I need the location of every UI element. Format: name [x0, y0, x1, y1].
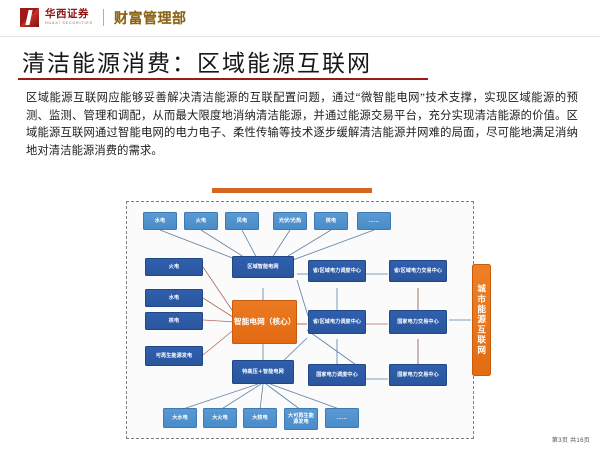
body-paragraph: 区域能源互联网应能够妥善解决清洁能源的互联配置问题，通过“微智能电网”技术支撑，…: [26, 90, 578, 160]
diagram-top-accent-bar: [212, 188, 372, 193]
node-bottom-source-4[interactable]: 大可再生能源发电: [284, 408, 318, 430]
huaxi-logo-icon: [20, 8, 39, 27]
node-top-source-5[interactable]: 核电: [314, 212, 348, 230]
node-right-grid-6[interactable]: 国家电力交易中心: [389, 364, 447, 386]
node-smart-grid-core[interactable]: 智能电网（核心）: [232, 300, 297, 344]
node-left-source-3[interactable]: 核电: [145, 312, 203, 330]
brand-name-cn: 华西证券: [45, 9, 93, 20]
node-top-source-3[interactable]: 风电: [225, 212, 259, 230]
node-top-source-2[interactable]: 火电: [184, 212, 218, 230]
energy-internet-diagram: 水电 火电 风电 光伏/光热 核电 …… 火电 水电 核电 可再生能源发电 区域…: [108, 188, 508, 446]
brand-name-block: 华西证券 HUAXI SECURITIES: [45, 9, 93, 26]
brand-header-bar: 华西证券 HUAXI SECURITIES 财富管理部: [0, 0, 600, 36]
node-bottom-source-3[interactable]: 大核电: [243, 408, 277, 428]
brand-logo-group: 华西证券 HUAXI SECURITIES 财富管理部: [20, 8, 186, 27]
node-right-grid-2[interactable]: 省/区域电力交易中心: [389, 260, 447, 282]
node-uhv-smart-grid[interactable]: 特高压＋智能电网: [232, 360, 294, 384]
page-title: 清洁能源消费：区域能源互联网: [22, 44, 372, 78]
node-left-source-1[interactable]: 火电: [145, 258, 203, 276]
node-bottom-source-2[interactable]: 大火电: [203, 408, 237, 428]
node-left-source-2[interactable]: 水电: [145, 289, 203, 307]
node-bottom-source-1[interactable]: 大水电: [163, 408, 197, 428]
brand-name-en: HUAXI SECURITIES: [45, 20, 93, 26]
title-underline: [18, 78, 428, 80]
brand-divider: [103, 9, 104, 26]
node-top-source-4[interactable]: 光伏/光热: [273, 212, 307, 230]
node-right-grid-5[interactable]: 国家电力调度中心: [308, 364, 366, 386]
urban-energy-internet-banner: 城市能源互联网: [472, 264, 491, 376]
page-indicator: 第3页 共16页: [552, 435, 590, 444]
header-separator-line: [0, 36, 600, 37]
node-left-source-4[interactable]: 可再生能源发电: [145, 346, 203, 366]
node-right-grid-3[interactable]: 省/区域电力调度中心: [308, 310, 366, 334]
node-top-source-6[interactable]: ……: [357, 212, 391, 230]
node-top-source-1[interactable]: 水电: [143, 212, 177, 230]
brand-department-label: 财富管理部: [114, 10, 187, 26]
node-regional-smart-grid[interactable]: 区域智能电网: [232, 256, 294, 278]
node-right-grid-4[interactable]: 国家电力交易中心: [389, 310, 447, 334]
node-bottom-source-5[interactable]: ……: [325, 408, 359, 428]
node-right-grid-1[interactable]: 省/区域电力调度中心: [308, 260, 366, 282]
